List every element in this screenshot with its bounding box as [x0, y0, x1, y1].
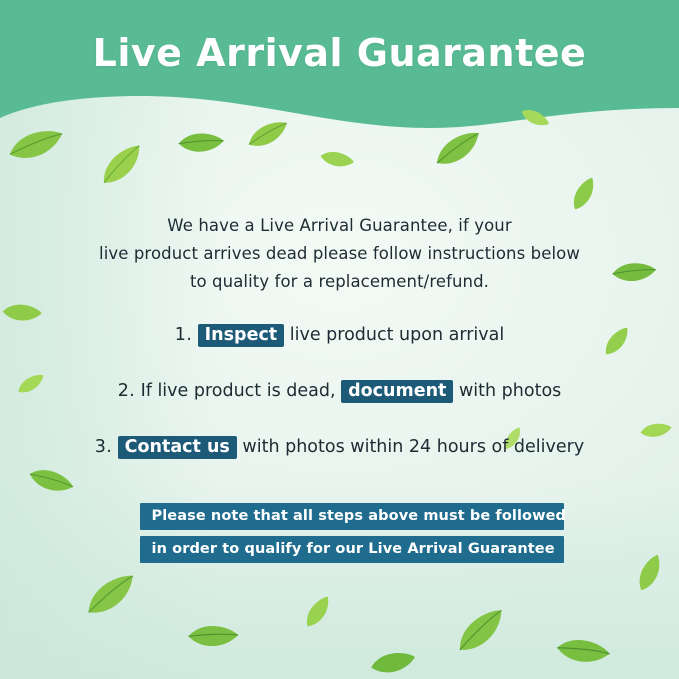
content-block: We have a Live Arrival Guarantee, if you… [0, 0, 679, 679]
live-arrival-guarantee-graphic: Live Arrival Guarantee [0, 0, 679, 679]
step-1-number: 1. [175, 325, 192, 345]
intro-paragraph: We have a Live Arrival Guarantee, if you… [60, 212, 620, 296]
step-3-highlight: Contact us [118, 436, 237, 459]
step-3-before [112, 437, 118, 457]
step-3-number: 3. [95, 437, 112, 457]
intro-line-3: to quality for a replacement/refund. [60, 268, 620, 296]
step-1: 1. Inspect live product upon arrival [0, 324, 679, 347]
step-2-before: If live product is dead, [135, 381, 341, 401]
step-2-number: 2. [118, 381, 135, 401]
note-line-1: Please note that all steps above must be… [140, 503, 564, 530]
intro-line-2: live product arrives dead please follow … [60, 240, 620, 268]
step-2: 2. If live product is dead, document wit… [0, 380, 679, 403]
step-3-after: with photos within 24 hours of delivery [237, 437, 584, 457]
step-1-highlight: Inspect [198, 324, 285, 347]
step-2-highlight: document [341, 380, 453, 403]
step-2-after: with photos [453, 381, 561, 401]
step-3: 3. Contact us with photos within 24 hour… [0, 436, 679, 459]
note-banner: Please note that all steps above must be… [140, 503, 540, 569]
note-line-2: in order to qualify for our Live Arrival… [140, 536, 564, 563]
step-1-after: live product upon arrival [284, 325, 504, 345]
intro-line-1: We have a Live Arrival Guarantee, if you… [60, 212, 620, 240]
